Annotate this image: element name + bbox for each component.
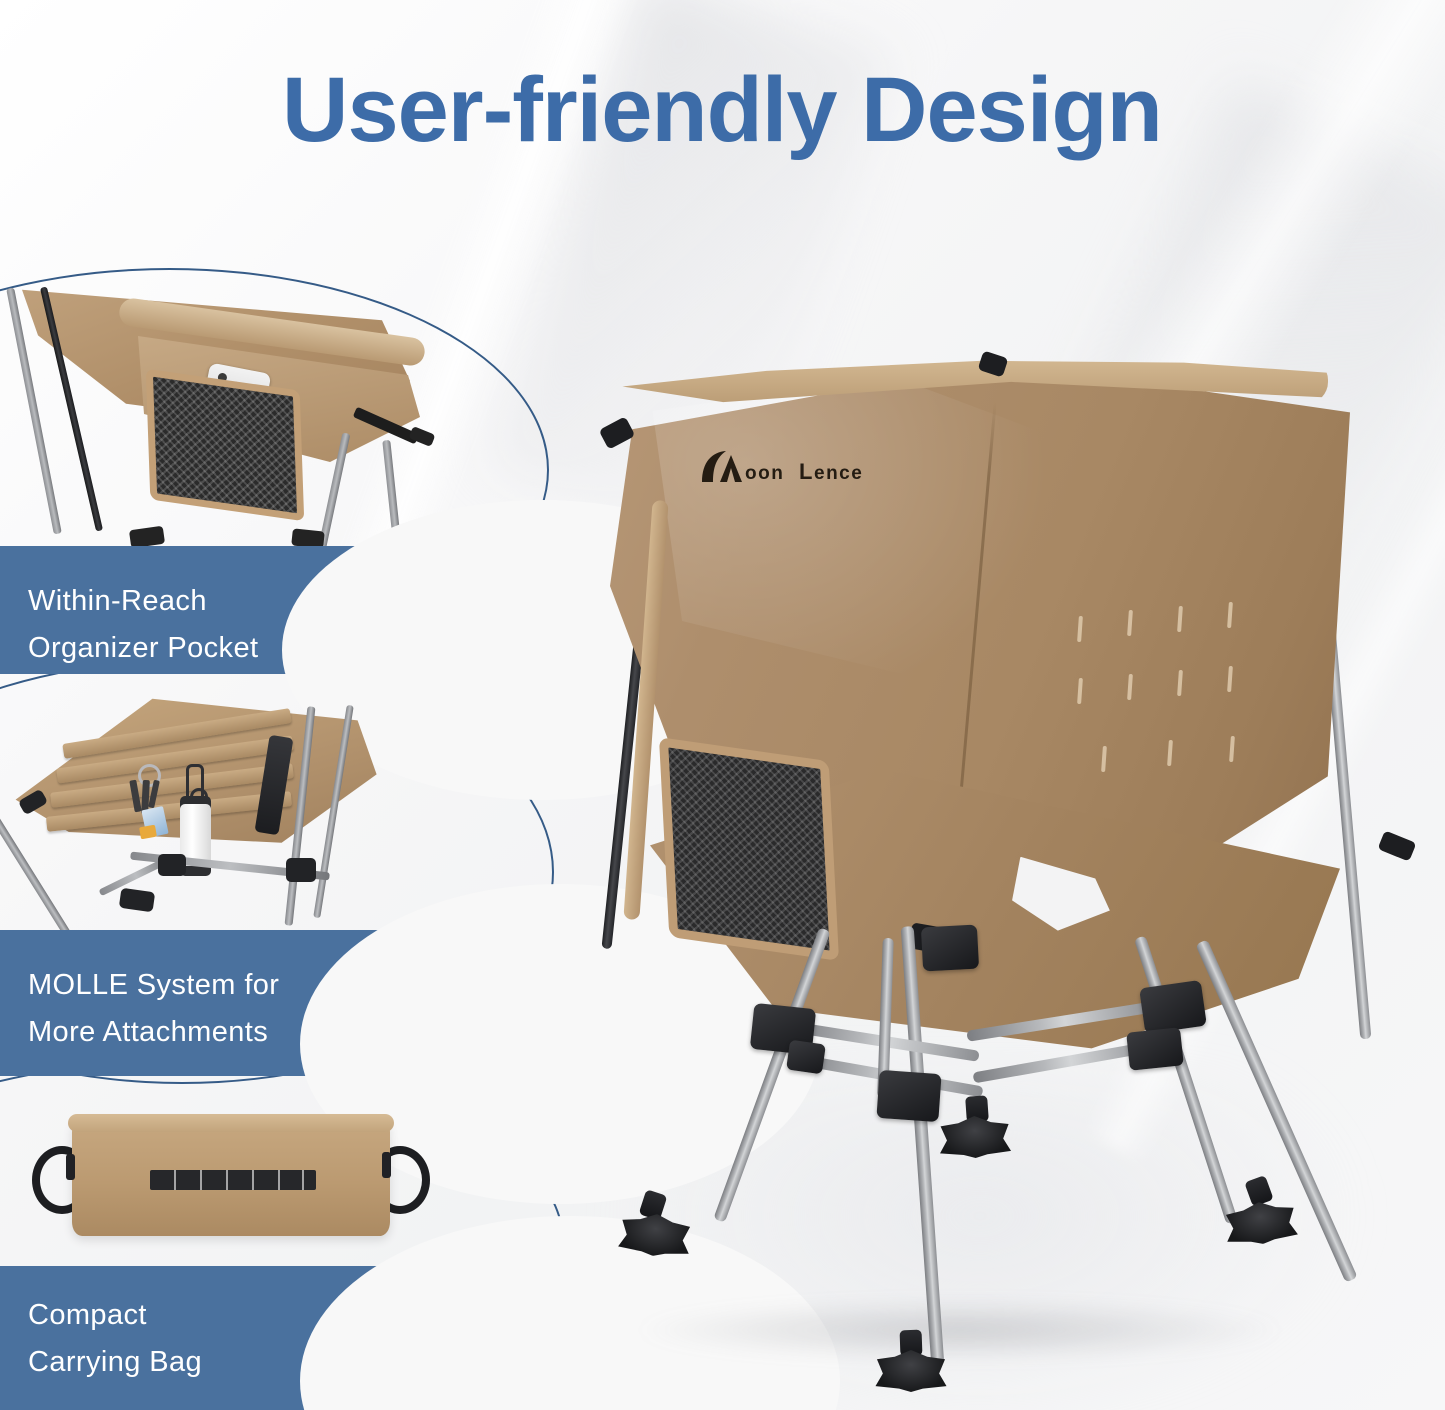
frame-hub-right-lower bbox=[1126, 1027, 1184, 1070]
bag-clip-right bbox=[382, 1152, 391, 1178]
feature-caption-carrying-bag: Compact Carrying Bag bbox=[28, 1292, 202, 1386]
frame-hub bbox=[286, 858, 316, 882]
frame-hub-bottom bbox=[876, 1070, 941, 1122]
product-image-chair: oon L ence bbox=[580, 330, 1440, 1390]
frame-hub bbox=[129, 526, 165, 548]
caption-line-2: Carrying Bag bbox=[28, 1339, 202, 1386]
frame-joint bbox=[786, 1040, 826, 1075]
fabric-corner-tip bbox=[1377, 830, 1416, 861]
frame-hub-right bbox=[1139, 980, 1207, 1034]
frame-hub bbox=[119, 888, 155, 913]
mesh-pocket-icon bbox=[659, 737, 839, 961]
brand-logo: oon L ence bbox=[698, 448, 908, 490]
svg-text:oon: oon bbox=[745, 463, 784, 484]
svg-text:L: L bbox=[799, 459, 814, 484]
page-title: User-friendly Design bbox=[282, 62, 1182, 159]
feature-photo-molle-system bbox=[0, 676, 500, 932]
caption-line-1: Within-Reach bbox=[28, 578, 258, 625]
chair-foot-back bbox=[937, 1115, 1012, 1160]
frame-hub-top bbox=[921, 925, 979, 972]
caption-line-1: Compact bbox=[28, 1292, 202, 1339]
chair-foot-left bbox=[616, 1210, 694, 1260]
feature-photo-organizer-pocket bbox=[0, 280, 500, 548]
caption-line-2: Organizer Pocket bbox=[28, 625, 258, 672]
strap-buckle bbox=[408, 426, 435, 447]
bag-molle-strip bbox=[150, 1170, 316, 1190]
svg-text:ence: ence bbox=[814, 463, 863, 484]
feature-caption-organizer-pocket: Within-Reach Organizer Pocket bbox=[28, 578, 258, 672]
infographic-canvas: User-friendly Design Within-Reach Organi… bbox=[0, 0, 1445, 1410]
fabric-corner-tip bbox=[599, 416, 636, 450]
chair-foot-right bbox=[1222, 1198, 1300, 1248]
mesh-pocket-icon bbox=[146, 369, 304, 521]
frame-hub bbox=[158, 854, 186, 876]
caption-line-2: More Attachments bbox=[28, 1009, 279, 1056]
caption-line-1: MOLLE System for bbox=[28, 962, 279, 1009]
carrying-bag-lip bbox=[68, 1114, 394, 1132]
feature-caption-molle-system: MOLLE System for More Attachments bbox=[28, 962, 279, 1056]
keys-icon bbox=[128, 764, 162, 830]
bag-clip-left bbox=[66, 1154, 75, 1180]
